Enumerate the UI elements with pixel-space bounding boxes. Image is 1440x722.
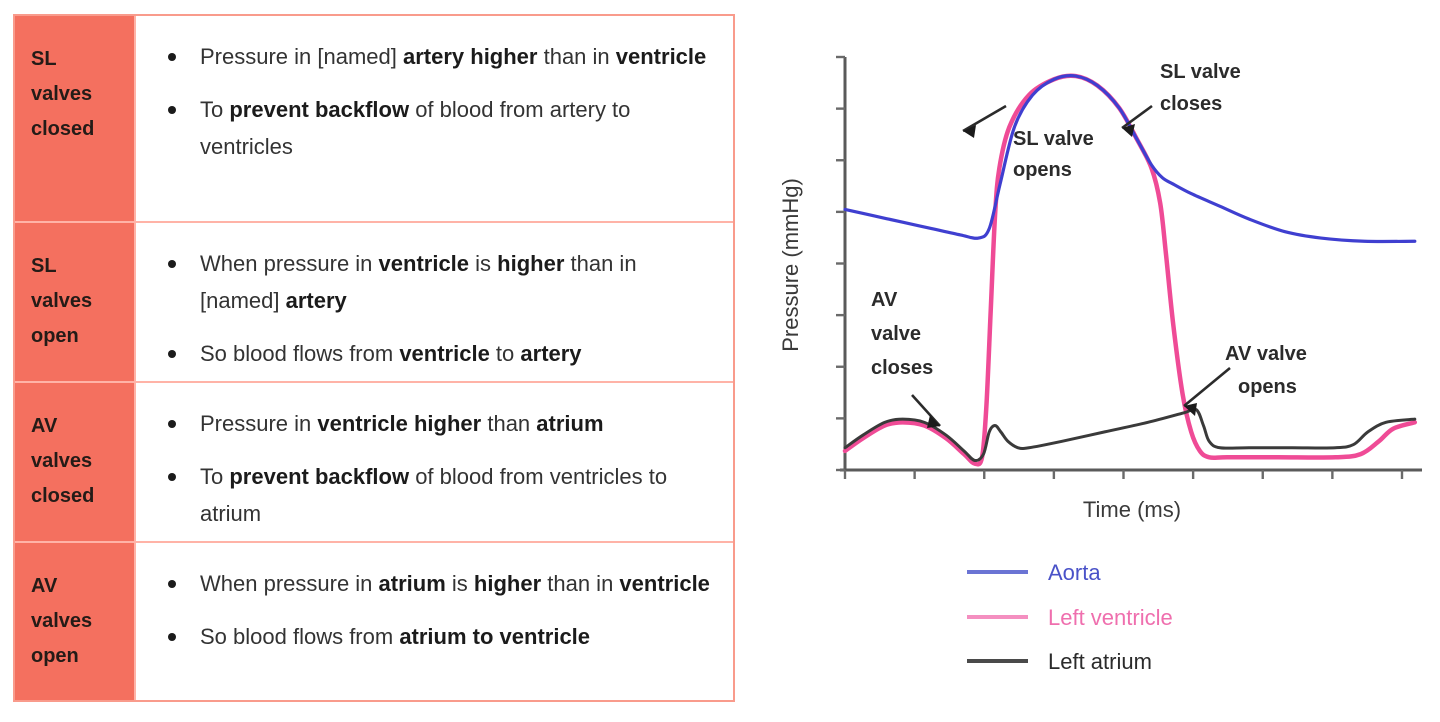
annotation-label-sl-valve-opens: SL valve opens (1013, 128, 1094, 181)
row-label-line: SL (31, 42, 134, 77)
row-label-line: valves (31, 77, 134, 112)
annotation-line: closes (871, 357, 933, 379)
table-row: AV valves open When pressure in atrium i… (15, 543, 733, 700)
row-label-sl-valves-open: SL valves open (15, 223, 136, 381)
table-row: AV valves closed Pressure in ventricle h… (15, 383, 733, 543)
bullet-list: Pressure in [named] artery higher than i… (164, 38, 717, 165)
bullet-item: So blood flows from atrium to ventricle (164, 618, 717, 655)
x-axis-title: Time (ms) (1083, 497, 1181, 522)
arrow-av-valve-opens (1184, 368, 1230, 406)
annotation-label-sl-valve-closes: SL valve closes (1160, 61, 1241, 115)
legend-item-left-ventricle: Left ventricle (967, 605, 1173, 630)
bullet-item: When pressure in ventricle is higher tha… (164, 245, 717, 319)
row-body: Pressure in ventricle higher than atrium… (136, 383, 733, 541)
bullet-item: Pressure in ventricle higher than atrium (164, 405, 717, 442)
row-label-sl-valves-closed: SL valves closed (15, 16, 136, 221)
annotation-line: SL valve (1160, 61, 1241, 83)
bullet-list: When pressure in ventricle is higher tha… (164, 245, 717, 372)
row-label-line: SL (31, 249, 134, 284)
chart-legend: Aorta Left ventricle Left atrium (967, 560, 1173, 674)
bullet-item: To prevent backflow of blood from artery… (164, 91, 717, 165)
arrow-sl-valve-opens (963, 106, 1006, 131)
series-line-aorta (845, 76, 1415, 242)
row-label-line: valves (31, 444, 134, 479)
bullet-item: So blood flows from ventricle to artery (164, 335, 717, 372)
y-axis-title: Pressure (mmHg) (778, 178, 803, 352)
annotation-line: closes (1160, 93, 1222, 115)
row-label-line: closed (31, 479, 134, 514)
bullet-list: Pressure in ventricle higher than atrium… (164, 405, 717, 532)
row-label-line: open (31, 319, 134, 354)
bullet-list: When pressure in atrium is higher than i… (164, 565, 717, 655)
annotation-label-av-valve-opens: AV valve opens (1225, 343, 1307, 398)
row-label-line: valves (31, 604, 134, 639)
row-body: When pressure in atrium is higher than i… (136, 543, 733, 700)
row-label-av-valves-closed: AV valves closed (15, 383, 136, 541)
row-label-av-valves-open: AV valves open (15, 543, 136, 700)
annotation-line: SL valve (1013, 128, 1094, 150)
legend-item-left-atrium: Left atrium (967, 649, 1152, 674)
table-row: SL valves open When pressure in ventricl… (15, 223, 733, 383)
cardiac-pressure-chart: Pressure (mmHg) Time (ms) (760, 0, 1440, 722)
row-label-line: valves (31, 284, 134, 319)
annotation-line: opens (1013, 159, 1072, 181)
bullet-item: When pressure in atrium is higher than i… (164, 565, 717, 602)
legend-label-left-atrium: Left atrium (1048, 649, 1152, 674)
row-body: When pressure in ventricle is higher tha… (136, 223, 733, 381)
row-label-line: AV (31, 569, 134, 604)
annotation-line: opens (1238, 376, 1297, 398)
annotation-line: valve (871, 323, 921, 345)
bullet-item: To prevent backflow of blood from ventri… (164, 458, 717, 532)
row-label-line: AV (31, 409, 134, 444)
annotation-label-av-valve-closes: AV valve closes (871, 289, 933, 379)
chart-svg: Pressure (mmHg) Time (ms) (760, 0, 1440, 722)
valves-summary-table: SL valves closed Pressure in [named] art… (13, 14, 735, 702)
row-label-line: open (31, 639, 134, 674)
row-label-line: closed (31, 112, 134, 147)
page-root: SL valves closed Pressure in [named] art… (0, 0, 1440, 722)
legend-item-aorta: Aorta (967, 560, 1101, 585)
annotation-line: AV valve (1225, 343, 1307, 365)
bullet-item: Pressure in [named] artery higher than i… (164, 38, 717, 75)
legend-label-left-ventricle: Left ventricle (1048, 605, 1173, 630)
table-row: SL valves closed Pressure in [named] art… (15, 16, 733, 223)
annotation-line: AV (871, 289, 898, 311)
row-body: Pressure in [named] artery higher than i… (136, 16, 733, 221)
legend-label-aorta: Aorta (1048, 560, 1101, 585)
